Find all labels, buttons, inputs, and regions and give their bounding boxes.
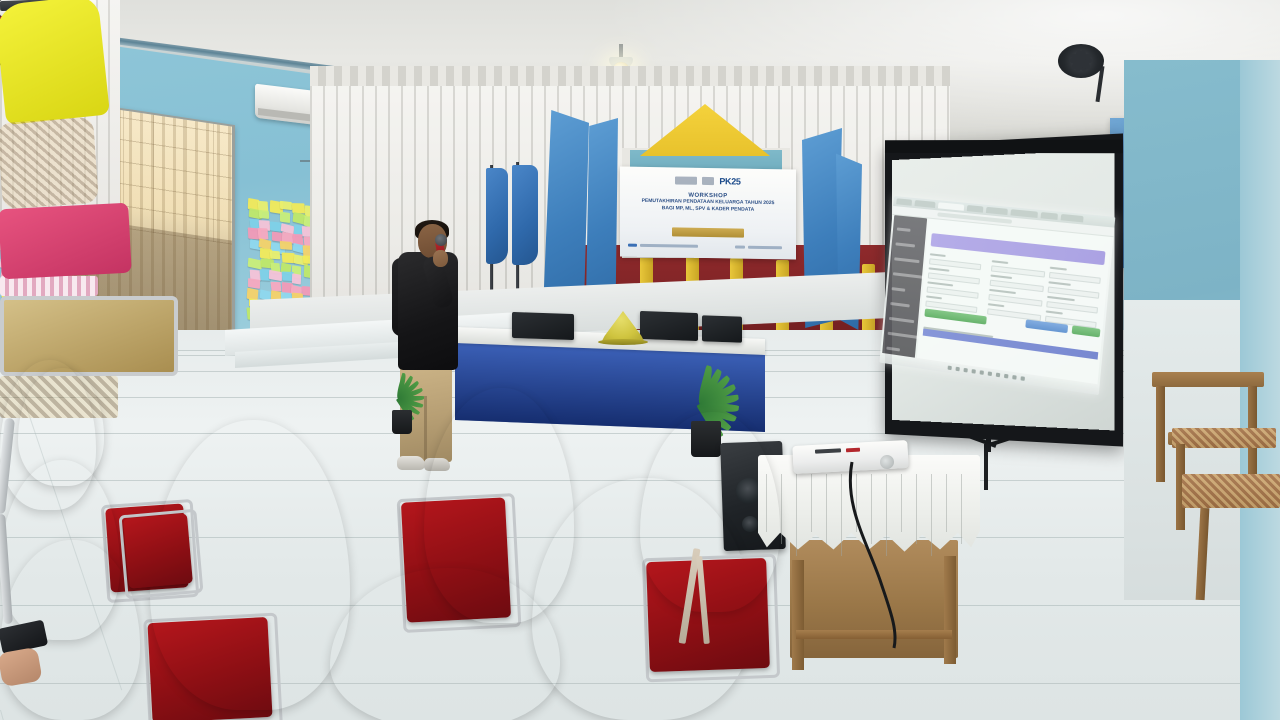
pink-bag: [0, 203, 132, 280]
chair-seat-back: [123, 513, 193, 588]
photo-scene: PK25 WORKSHOP PEMUTAKHIRAN PENDATAAN KEL…: [0, 0, 1280, 720]
attendee-yellow-top: [0, 0, 110, 125]
audience-group: [0, 0, 1280, 720]
patterned-shawl: [0, 117, 99, 209]
attendee-hijab: [640, 412, 780, 612]
bag-trim: [0, 276, 98, 296]
ornate-chair: [0, 296, 178, 376]
